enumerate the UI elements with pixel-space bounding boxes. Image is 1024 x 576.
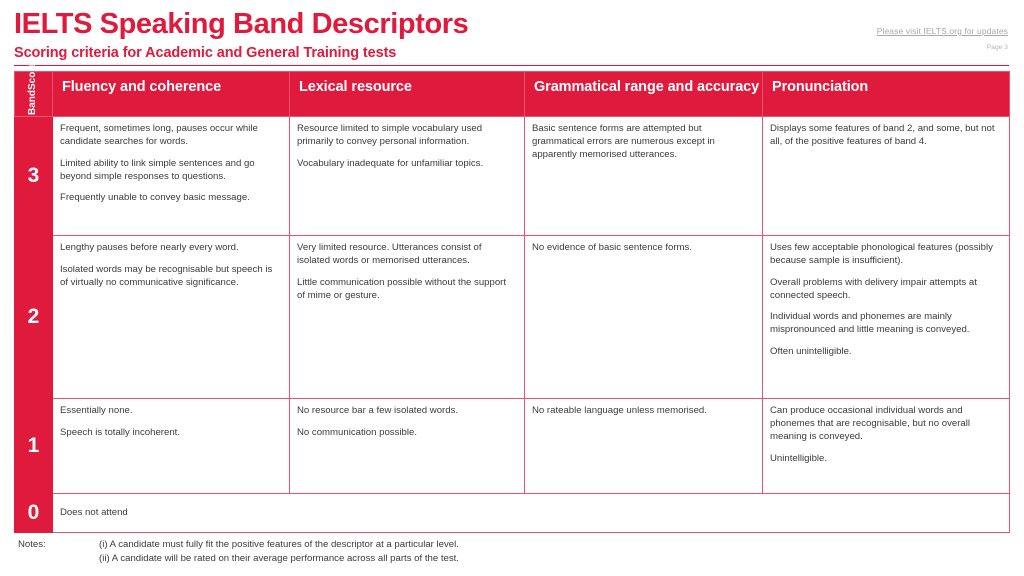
descriptor-paragraph: No rateable language unless memorised. — [532, 405, 752, 418]
cell-does-not-attend: Does not attend — [53, 494, 1010, 533]
descriptor-paragraph: No communication possible. — [297, 427, 514, 440]
descriptor-paragraph: Little communication possible without th… — [297, 277, 514, 303]
cell-lexical: Resource limited to simple vocabulary us… — [290, 117, 525, 236]
descriptor-paragraph: Basic sentence forms are attempted but g… — [532, 123, 752, 162]
band-score-cell: 3 — [15, 117, 53, 236]
header-meta: Please visit IELTS.org for updates Page … — [877, 26, 1008, 51]
column-header-lexical: Lexical resource — [290, 72, 525, 117]
descriptor-paragraph: Isolated words may be recognisable but s… — [60, 264, 279, 290]
band-descriptors-table: Band Score Fluency and coherence Lexical… — [14, 71, 1010, 533]
cell-lexical: No resource bar a few isolated words. No… — [290, 399, 525, 494]
note-item: (ii) A candidate will be rated on their … — [99, 552, 459, 566]
document-header: IELTS Speaking Band Descriptors Scoring … — [0, 0, 1024, 61]
descriptor-paragraph: Unintelligible. — [770, 453, 999, 466]
band-score-cell: 0 — [15, 494, 53, 533]
notes-label: Notes: — [18, 538, 99, 565]
note-item: (i) A candidate must fully fit the posit… — [99, 538, 459, 552]
page-subtitle: Scoring criteria for Academic and Genera… — [14, 45, 1024, 61]
table-row: 3 Frequent, sometimes long, pauses occur… — [15, 117, 1010, 236]
cell-fluency: Lengthy pauses before nearly every word.… — [53, 236, 290, 399]
ielts-org-link[interactable]: Please visit IELTS.org for updates — [877, 26, 1008, 36]
cell-lexical: Very limited resource. Utterances consis… — [290, 236, 525, 399]
cell-grammar: Basic sentence forms are attempted but g… — [525, 117, 763, 236]
descriptor-paragraph: Overall problems with delivery impair at… — [770, 277, 999, 303]
descriptor-paragraph: Resource limited to simple vocabulary us… — [297, 123, 514, 149]
table-row: 0 Does not attend — [15, 494, 1010, 533]
column-header-pronunciation: Pronunciation — [763, 72, 1010, 117]
document-page: IELTS Speaking Band Descriptors Scoring … — [0, 0, 1024, 576]
descriptor-paragraph: Very limited resource. Utterances consis… — [297, 242, 514, 268]
descriptor-paragraph: Speech is totally incoherent. — [60, 427, 279, 440]
cell-grammar: No evidence of basic sentence forms. — [525, 236, 763, 399]
descriptor-paragraph: Frequent, sometimes long, pauses occur w… — [60, 123, 279, 149]
table-row: 2 Lengthy pauses before nearly every wor… — [15, 236, 1010, 399]
cell-fluency: Frequent, sometimes long, pauses occur w… — [53, 117, 290, 236]
column-header-band-score: Band Score — [15, 72, 53, 117]
table-body: 3 Frequent, sometimes long, pauses occur… — [15, 117, 1010, 533]
descriptor-paragraph: No resource bar a few isolated words. — [297, 405, 514, 418]
cell-grammar: No rateable language unless memorised. — [525, 399, 763, 494]
band-score-label-line2: Score — [28, 63, 39, 91]
band-score-cell: 2 — [15, 236, 53, 399]
page-number: Page 3 — [877, 44, 1008, 51]
table-header: Band Score Fluency and coherence Lexical… — [15, 72, 1010, 117]
descriptor-paragraph: Frequently unable to convey basic messag… — [60, 192, 279, 205]
descriptor-paragraph: Limited ability to link simple sentences… — [60, 158, 279, 184]
descriptor-paragraph: Displays some features of band 2, and so… — [770, 123, 999, 149]
header-divider — [14, 65, 1009, 66]
band-score-label-line1: Band — [28, 90, 39, 115]
cell-pronunciation: Displays some features of band 2, and so… — [763, 117, 1010, 236]
notes-section: Notes: (i) A candidate must fully fit th… — [18, 538, 459, 565]
band-score-label: Band Score — [28, 72, 39, 106]
cell-pronunciation: Can produce occasional individual words … — [763, 399, 1010, 494]
descriptor-paragraph: Essentially none. — [60, 405, 279, 418]
cell-fluency: Essentially none. Speech is totally inco… — [53, 399, 290, 494]
cell-pronunciation: Uses few acceptable phonological feature… — [763, 236, 1010, 399]
page-title: IELTS Speaking Band Descriptors — [14, 9, 1024, 39]
notes-list: (i) A candidate must fully fit the posit… — [99, 538, 459, 565]
table-row: 1 Essentially none. Speech is totally in… — [15, 399, 1010, 494]
descriptor-paragraph: No evidence of basic sentence forms. — [532, 242, 752, 255]
table-header-row: Band Score Fluency and coherence Lexical… — [15, 72, 1010, 117]
descriptor-paragraph: Vocabulary inadequate for unfamiliar top… — [297, 158, 514, 171]
descriptor-paragraph: Often unintelligible. — [770, 346, 999, 359]
descriptor-paragraph: Can produce occasional individual words … — [770, 405, 999, 444]
descriptor-paragraph: Uses few acceptable phonological feature… — [770, 242, 999, 268]
column-header-grammar: Grammatical range and accuracy — [525, 72, 763, 117]
column-header-fluency: Fluency and coherence — [53, 72, 290, 117]
band-score-cell: 1 — [15, 399, 53, 494]
descriptor-paragraph: Lengthy pauses before nearly every word. — [60, 242, 279, 255]
descriptor-paragraph: Individual words and phonemes are mainly… — [770, 311, 999, 337]
